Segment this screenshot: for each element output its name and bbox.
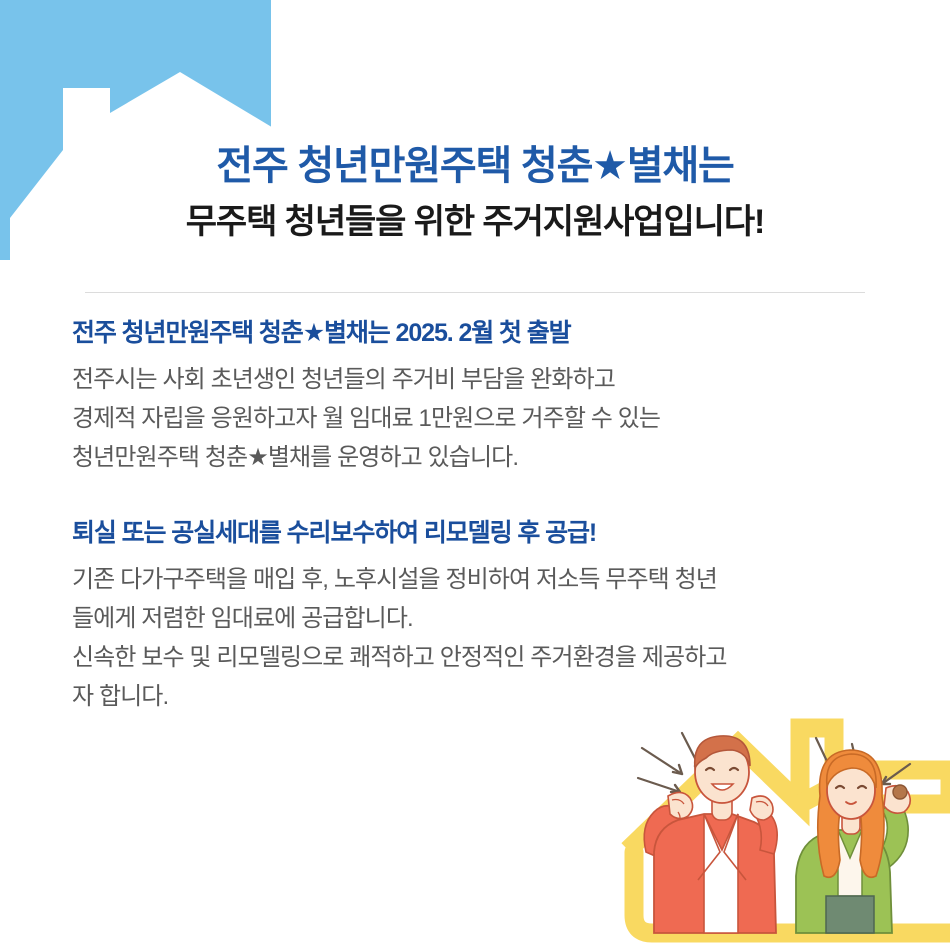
- woman-pants: [826, 896, 874, 933]
- man-head: [695, 741, 749, 803]
- section-1-body-line-3: 청년만원주택 청춘★별채를 운영하고 있습니다.: [72, 439, 902, 478]
- woman-raised-arm: [872, 800, 908, 868]
- page-title-line2: 무주택 청년들을 위한 주거지원사업입니다!: [0, 202, 950, 243]
- section-2-body: 기존 다가구주택을 매입 후, 노후시설을 정비하여 저소득 무주택 청년 들에…: [72, 561, 902, 717]
- section-2-body-line-1: 기존 다가구주택을 매입 후, 노후시설을 정비하여 저소득 무주택 청년: [72, 561, 902, 600]
- man-neck: [712, 792, 732, 820]
- woman-inner-top: [838, 830, 862, 896]
- woman-figure: [796, 738, 910, 933]
- header-divider: [85, 292, 865, 293]
- woman-jacket: [796, 830, 892, 933]
- arrow-group-woman: [816, 738, 910, 784]
- section-1-body-line-1: 전주시는 사회 초년생인 청년들의 주거비 부담을 완화하고: [72, 361, 902, 400]
- man-jacket: [654, 814, 776, 933]
- woman-hair-front: [827, 754, 876, 788]
- woman-raised-hand: [884, 786, 910, 813]
- man-left-hand: [668, 792, 693, 818]
- header-title-block: 전주 청년만원주택 청춘★별채는 무주택 청년들을 위한 주거지원사업입니다!: [0, 143, 950, 243]
- man-hair: [695, 736, 750, 768]
- man-tshirt: [704, 814, 738, 933]
- man-left-arm: [644, 806, 682, 860]
- woman-neck: [842, 808, 860, 834]
- section-2-body-line-4: 자 합니다.: [72, 678, 902, 717]
- page-title-line1: 전주 청년만원주택 청춘★별채는: [0, 143, 950, 190]
- yellow-house-outline: [628, 728, 950, 933]
- woman-head: [827, 761, 875, 819]
- section-1-heading: 전주 청년만원주택 청춘★별채는 2025. 2월 첫 출발: [72, 318, 902, 349]
- woman-hand-object: [893, 785, 907, 799]
- section-1-body: 전주시는 사회 초년생인 청년들의 주거비 부담을 완화하고 경제적 자립을 응…: [72, 361, 902, 478]
- section-remodeling-supply: 퇴실 또는 공실세대를 수리보수하여 리모델링 후 공급! 기존 다가구주택을 …: [72, 518, 902, 717]
- section-2-body-line-3: 신속한 보수 및 리모델링으로 쾌적하고 안정적인 주거환경을 제공하고: [72, 639, 902, 678]
- section-first-launch: 전주 청년만원주택 청춘★별채는 2025. 2월 첫 출발 전주시는 사회 초…: [72, 318, 902, 478]
- section-1-body-line-2: 경제적 자립을 응원하고자 월 임대료 1만원으로 거주할 수 있는: [72, 400, 902, 439]
- poster-canvas: 전주 청년만원주택 청춘★별채는 무주택 청년들을 위한 주거지원사업입니다! …: [0, 0, 950, 950]
- woman-hair-back: [818, 750, 884, 877]
- man-right-arm: [756, 814, 777, 854]
- section-2-heading: 퇴실 또는 공실세대를 수리보수하여 리모델링 후 공급!: [72, 518, 902, 549]
- man-figure: [638, 733, 777, 933]
- section-2-body-line-2: 들에게 저렴한 임대료에 공급합니다.: [72, 600, 902, 639]
- arrow-group-man: [638, 733, 702, 792]
- man-right-hand: [750, 796, 773, 820]
- couple-pointing-at-self-illustration: [620, 700, 950, 950]
